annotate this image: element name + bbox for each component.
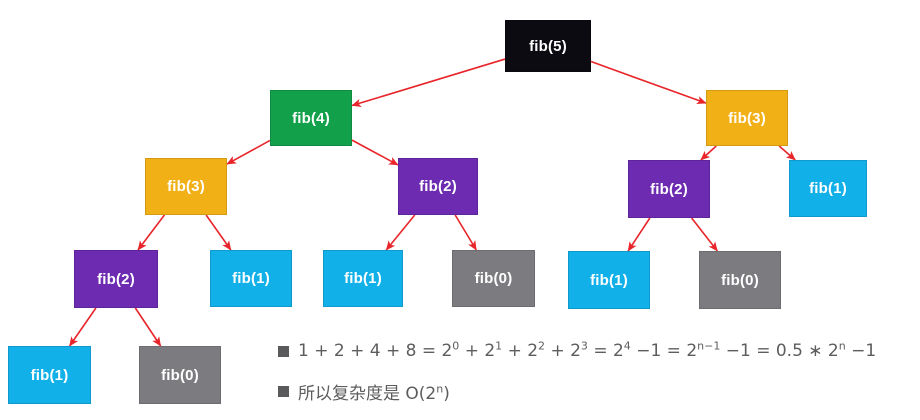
bullet-square-icon [278,386,289,397]
edge-n2-to-n5 [701,146,716,160]
tree-node-fib2-n5: fib(2) [628,160,710,218]
exponent: 3 [581,339,588,352]
complexity-note-text: 所以复杂度是 O(2n) [298,379,450,404]
tree-node-fib1-n8: fib(1) [210,250,292,307]
exponent: n−1 [697,339,720,352]
tree-node-label: fib(0) [161,367,199,384]
tree-node-label: fib(1) [344,270,382,287]
exponent: 4 [624,339,631,352]
edge-n0-to-n1 [352,59,505,105]
tree-node-fib1-n11: fib(1) [568,251,650,309]
tree-node-fib1-n6: fib(1) [789,160,867,217]
tree-node-label: fib(1) [232,270,270,287]
edge-n4-to-n10 [455,215,476,250]
exponent: n [839,339,846,352]
bullet-square-icon [278,346,289,357]
tree-node-label: fib(1) [809,180,847,197]
exponent: 2 [538,339,545,352]
legend-item-sum-formula: 1 + 2 + 4 + 8 = 20 + 21 + 22 + 23 = 24 −… [278,341,876,361]
edge-n3-to-n7 [138,215,164,250]
edge-n7-to-n14 [135,308,160,346]
tree-node-label: fib(2) [650,181,688,198]
tree-node-fib0-n14: fib(0) [139,346,221,404]
tree-node-label: fib(4) [292,110,330,127]
exponent: 1 [495,339,502,352]
sum-formula-text: 1 + 2 + 4 + 8 = 20 + 21 + 22 + 23 = 24 −… [298,341,876,361]
edge-n0-to-n2 [591,62,706,104]
tree-node-label: fib(1) [31,367,69,384]
tree-node-label: fib(5) [529,38,567,55]
tree-node-fib1-n9: fib(1) [323,250,403,307]
edge-n4-to-n9 [386,215,415,250]
edge-n1-to-n3 [227,140,270,164]
exponent: 0 [452,339,459,352]
tree-node-fib2-n7: fib(2) [74,250,158,308]
exponent: n [436,382,443,395]
tree-node-fib2-n4: fib(2) [398,158,478,215]
tree-node-label: fib(1) [590,272,628,289]
tree-node-fib1-n13: fib(1) [8,346,91,404]
tree-node-label: fib(0) [475,270,513,287]
edge-n2-to-n6 [779,146,795,160]
tree-node-fib4-n1: fib(4) [270,90,352,146]
edge-n3-to-n8 [206,215,231,250]
edge-n7-to-n13 [70,308,96,346]
tree-node-label: fib(2) [419,178,457,195]
edge-n1-to-n4 [352,140,398,165]
tree-node-label: fib(0) [721,272,759,289]
tree-node-label: fib(3) [728,110,766,127]
edge-n5-to-n12 [692,218,718,251]
tree-node-fib3-n2: fib(3) [706,90,788,146]
tree-node-fib3-n3: fib(3) [145,158,227,215]
tree-node-label: fib(2) [97,271,135,288]
tree-node-fib0-n10: fib(0) [452,250,535,307]
edge-n5-to-n11 [628,218,650,251]
legend-item-complexity-note: 所以复杂度是 O(2n) [278,379,450,404]
tree-node-fib5-n0: fib(5) [505,20,591,72]
tree-node-fib0-n12: fib(0) [699,251,781,309]
tree-node-label: fib(3) [167,178,205,195]
